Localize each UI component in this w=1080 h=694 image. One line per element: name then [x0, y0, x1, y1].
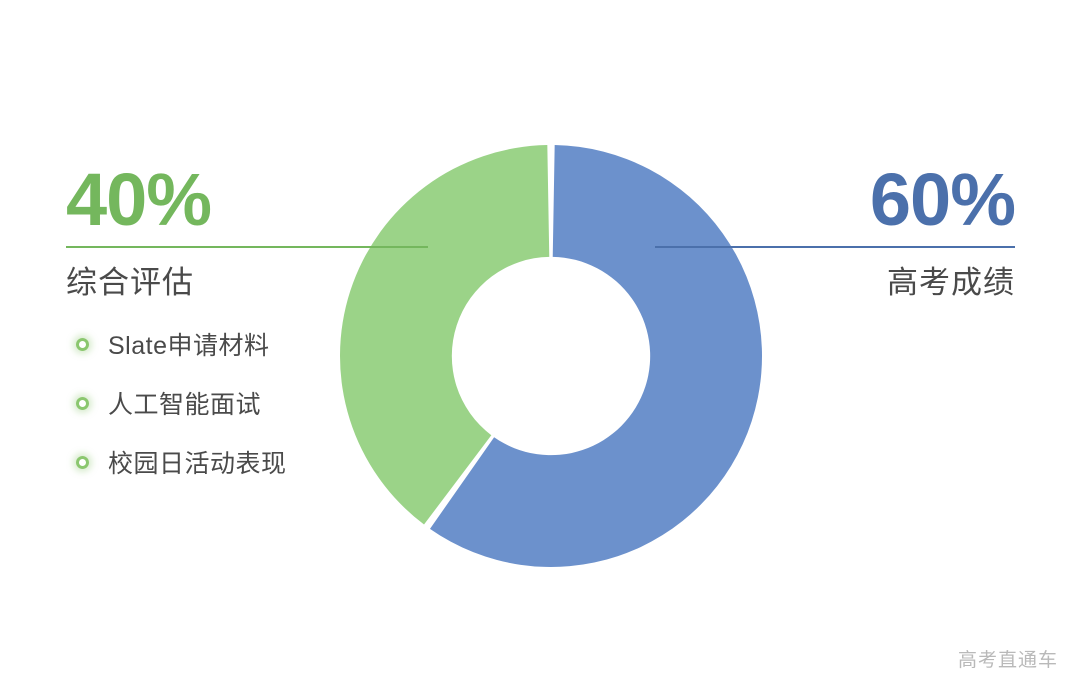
list-item-label: 校园日活动表现	[108, 444, 287, 480]
circle-bullet-icon	[76, 456, 89, 469]
right-percent-value: 60%	[655, 166, 1015, 234]
left-category-label: 综合评估	[66, 266, 428, 300]
list-item[interactable]: 人工智能面试	[76, 385, 428, 421]
list-item-label: 人工智能面试	[108, 385, 261, 421]
left-stat-block: 40% 综合评估 Slate申请材料 人工智能面试 校园日活动表现	[66, 166, 428, 503]
list-item[interactable]: 校园日活动表现	[76, 444, 428, 480]
circle-bullet-icon	[76, 397, 89, 410]
list-item[interactable]: Slate申请材料	[76, 326, 428, 362]
right-category-label: 高考成绩	[655, 266, 1015, 300]
list-item-label: Slate申请材料	[108, 326, 269, 362]
watermark-label: 高考直通车	[958, 645, 1058, 672]
left-feature-list: Slate申请材料 人工智能面试 校园日活动表现	[66, 326, 428, 480]
circle-bullet-icon	[76, 338, 89, 351]
right-divider-rule	[655, 246, 1015, 248]
right-stat-block: 60% 高考成绩	[655, 166, 1015, 300]
left-divider-rule	[66, 246, 428, 248]
left-percent-value: 40%	[66, 166, 428, 234]
infographic-canvas: 40% 综合评估 Slate申请材料 人工智能面试 校园日活动表现 60% 高考…	[0, 0, 1080, 694]
